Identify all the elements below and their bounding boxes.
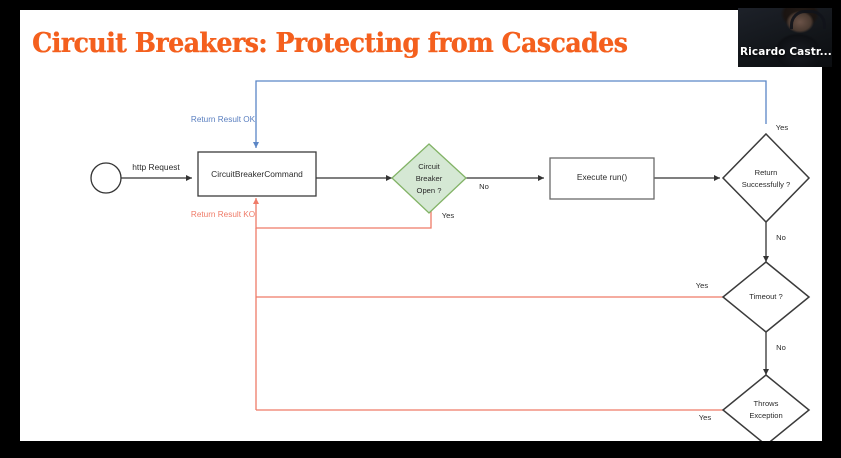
edge-label-http-request: http Request: [132, 162, 180, 172]
edge-label-cb-open-no: No: [479, 182, 489, 191]
node-label-return-successfully-line1: Return: [755, 168, 778, 177]
edge-label-return-successfully-no: No: [776, 233, 786, 242]
node-label-cb-open-line3: Open ?: [417, 186, 442, 195]
webcam-thumbnail[interactable]: Ricardo Castr...: [738, 8, 832, 67]
edge-return-result-ko: [256, 198, 746, 410]
node-return-successfully: [723, 134, 809, 222]
screen-share-view: Circuit Breakers: Protecting from Cascad…: [0, 0, 841, 458]
node-label-execute-run: Execute run(): [577, 172, 627, 182]
edge-label-return-successfully-yes: Yes: [776, 123, 789, 132]
node-throws-exception: [723, 375, 809, 441]
node-start: [91, 163, 121, 193]
headset-icon: [790, 10, 826, 29]
node-label-throws-line1: Throws: [754, 399, 779, 408]
edge-label-cb-open-yes: Yes: [442, 211, 455, 220]
edge-label-throws-yes: Yes: [699, 413, 712, 422]
node-label-throws-line2: Exception: [749, 411, 782, 420]
edge-return-result-ok: [256, 81, 766, 148]
edge-label-timeout-yes: Yes: [696, 281, 709, 290]
circuit-breaker-flowchart: http Request CircuitBreakerCommand Circu…: [20, 10, 822, 441]
edge-label-timeout-no: No: [776, 343, 786, 352]
presentation-slide: Circuit Breakers: Protecting from Cascad…: [20, 10, 822, 441]
node-label-return-successfully-line2: Successfully ?: [742, 180, 791, 189]
edge-label-return-result-ok: Return Result OK: [191, 115, 256, 124]
node-label-cb-open-line2: Breaker: [416, 174, 443, 183]
node-label-timeout: Timeout ?: [749, 292, 782, 301]
node-label-cb-open-line1: Circuit: [418, 162, 440, 171]
participant-name: Ricardo Castr...: [740, 46, 832, 58]
node-label-command: CircuitBreakerCommand: [211, 169, 303, 179]
edge-label-return-result-ko: Return Result KO: [191, 210, 255, 219]
